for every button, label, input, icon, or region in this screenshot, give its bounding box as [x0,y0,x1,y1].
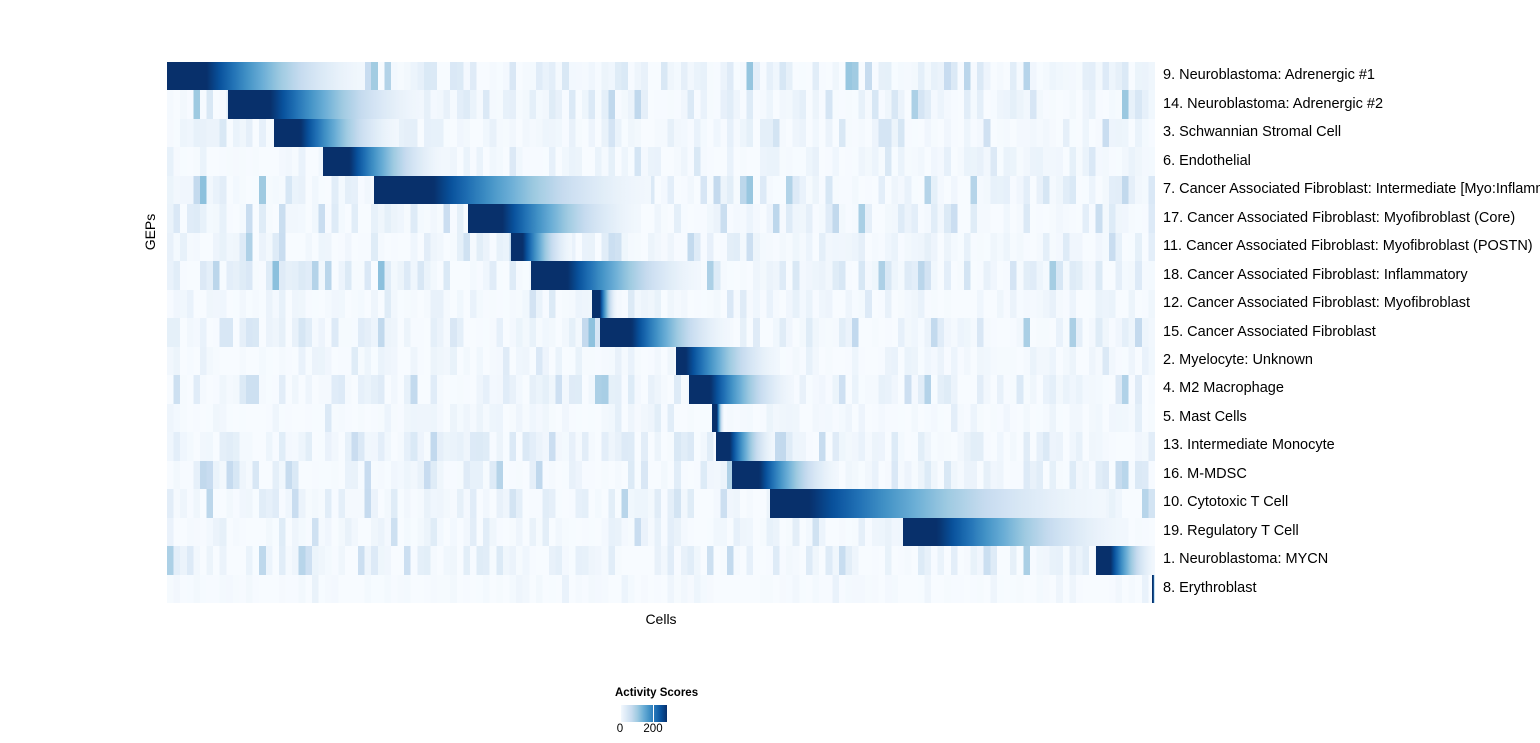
heatmap-row-noise [167,347,1155,375]
heatmap-activity-block [531,261,701,289]
heatmap-row [167,290,1155,318]
heatmap-activity-block [374,176,651,204]
heatmap-row-label: 12. Cancer Associated Fibroblast: Myofib… [1163,296,1470,311]
heatmap-row-label: 18. Cancer Associated Fibroblast: Inflam… [1163,268,1468,283]
heatmap-row [167,461,1155,489]
heatmap-activity-block [716,432,774,460]
heatmap-activity-block [167,62,365,90]
heatmap-row [167,575,1155,603]
colorbar-ticklabel-min: 0 [617,723,623,735]
heatmap-row-noise [167,147,1155,175]
heatmap-row [167,62,1155,90]
heatmap-row [167,318,1155,346]
colorbar-tick-max [653,705,654,722]
heatmap-row [167,404,1155,432]
heatmap-row-label: 6. Endothelial [1163,154,1251,169]
heatmap-activity-block [511,233,572,261]
heatmap-row-label: 17. Cancer Associated Fibroblast: Myofib… [1163,211,1515,226]
heatmap-row-labels: 9. Neuroblastoma: Adrenergic #114. Neuro… [1163,62,1540,603]
heatmap-row-noise [167,204,1155,232]
heatmap-row [167,518,1155,546]
heatmap-activity-block [1096,546,1155,574]
heatmap-row-label: 11. Cancer Associated Fibroblast: Myofib… [1163,239,1533,254]
colorbar [620,705,667,722]
heatmap-row-noise [167,290,1155,318]
heatmap-row-label: 7. Cancer Associated Fibroblast: Interme… [1163,182,1540,197]
heatmap-activity-block [323,147,444,175]
heatmap-row [167,432,1155,460]
colorbar-legend: Activity Scores 0 200 [614,687,794,743]
colorbar-gradient [620,705,667,722]
heatmap-row-label: 4. M2 Macrophage [1163,381,1284,396]
heatmap-row [167,489,1155,517]
heatmap-activity-block [592,290,617,318]
heatmap-row-label: 15. Cancer Associated Fibroblast [1163,325,1376,340]
heatmap-row [167,176,1155,204]
heatmap-row-noise [167,375,1155,403]
heatmap-row-label: 14. Neuroblastoma: Adrenergic #2 [1163,97,1383,112]
heatmap-row-noise [167,176,1155,204]
heatmap-activity-block [676,347,780,375]
gep-activity-heatmap-figure: GEPs 9. Neuroblastoma: Adrenergic #114. … [0,0,1540,743]
heatmap-row-label: 10. Cytotoxic T Cell [1163,495,1288,510]
heatmap-row-label: 3. Schwannian Stromal Cell [1163,125,1341,140]
heatmap-row-label: 9. Neuroblastoma: Adrenergic #1 [1163,68,1375,83]
y-axis-title: GEPs [142,132,158,332]
heatmap-row-noise [167,432,1155,460]
heatmap-row [167,347,1155,375]
heatmap-row-noise [167,546,1155,574]
heatmap-activity-block [689,375,795,403]
heatmap-panel[interactable] [167,62,1155,603]
heatmap-activity-block [712,404,724,432]
heatmap-row-label: 13. Intermediate Monocyte [1163,438,1335,453]
heatmap-row [167,546,1155,574]
heatmap-activity-block [600,318,730,346]
heatmap-activity-block [228,90,424,118]
x-axis-title: Cells [167,611,1155,627]
heatmap-activity-block [903,518,1125,546]
heatmap-row-label: 1. Neuroblastoma: MYCN [1163,552,1328,567]
heatmap-row-label: 8. Erythroblast [1163,581,1257,596]
heatmap-activity-block [468,204,641,232]
heatmap-row [167,119,1155,147]
heatmap-row-label: 5. Mast Cells [1163,410,1247,425]
colorbar-tick-min [620,705,621,722]
heatmap-row-label: 16. M-MDSC [1163,467,1247,482]
heatmap-activity-block [732,461,839,489]
heatmap-row [167,233,1155,261]
heatmap-row [167,147,1155,175]
heatmap-row-label: 19. Regulatory T Cell [1163,524,1299,539]
heatmap-row-noise [167,233,1155,261]
heatmap-row-noise [167,404,1155,432]
heatmap-row-label: 2. Myelocyte: Unknown [1163,353,1313,368]
colorbar-ticklabel-max: 200 [643,723,662,735]
heatmap-row-noise [167,575,1155,603]
heatmap-row [167,204,1155,232]
heatmap-row [167,90,1155,118]
colorbar-title: Activity Scores [615,687,698,699]
heatmap-row [167,375,1155,403]
heatmap-row [167,261,1155,289]
heatmap-activity-block [274,119,399,147]
heatmap-activity-block [1152,575,1155,603]
heatmap-activity-block [770,489,1106,517]
heatmap-row-noise [167,461,1155,489]
